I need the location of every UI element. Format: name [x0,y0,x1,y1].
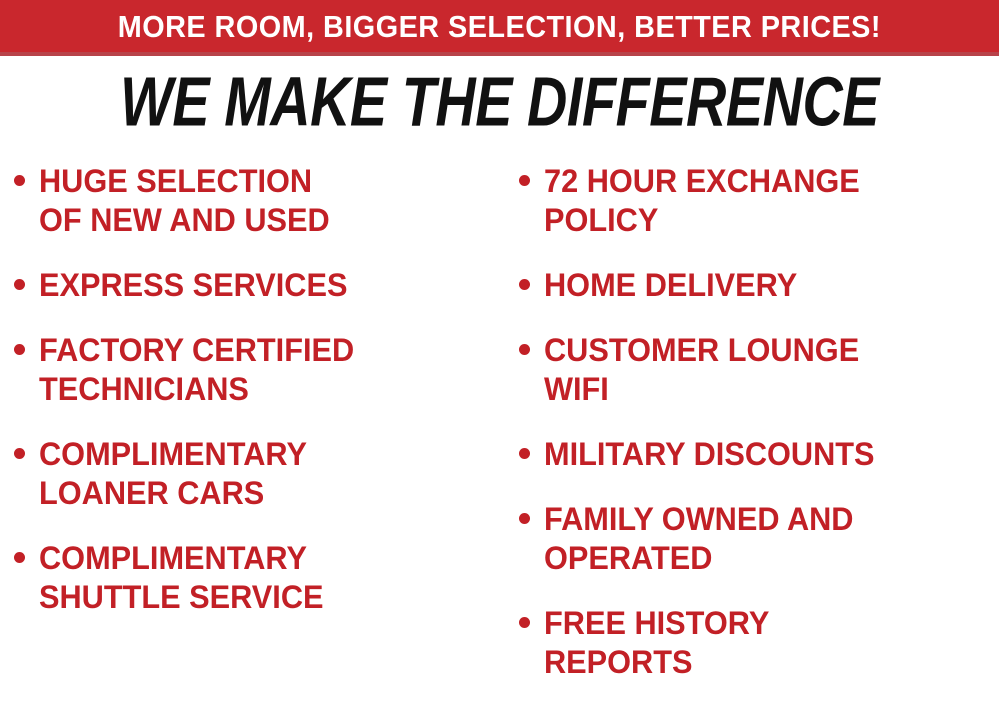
list-item-label: FREE HISTORY REPORTS [544,604,769,682]
list-item: FREE HISTORY REPORTS [519,604,999,682]
list-item: 72 HOUR EXCHANGE POLICY [519,162,999,240]
benefits-column-left: HUGE SELECTION OF NEW AND USED EXPRESS S… [0,152,505,643]
bullet-dot-icon [519,513,530,524]
list-item: EXPRESS SERVICES [14,266,505,305]
bullet-dot-icon [519,448,530,459]
list-item-label: HUGE SELECTION OF NEW AND USED [39,162,330,240]
list-item: CUSTOMER LOUNGE WIFI [519,331,999,409]
bullet-dot-icon [14,344,25,355]
list-item-label: COMPLIMENTARY LOANER CARS [39,435,307,513]
list-item: HUGE SELECTION OF NEW AND USED [14,162,505,240]
bullet-dot-icon [14,175,25,186]
list-item: MILITARY DISCOUNTS [519,435,999,474]
list-item-label: HOME DELIVERY [544,266,797,305]
list-item-label: EXPRESS SERVICES [39,266,347,305]
promo-banner-text: MORE ROOM, BIGGER SELECTION, BETTER PRIC… [118,11,881,42]
bullet-dot-icon [519,175,530,186]
headline: WE MAKE THE DIFFERENCE [0,64,999,142]
list-item-label: COMPLIMENTARY SHUTTLE SERVICE [39,539,323,617]
bullet-dot-icon [519,617,530,628]
bullet-dot-icon [519,344,530,355]
promo-banner: MORE ROOM, BIGGER SELECTION, BETTER PRIC… [0,0,999,52]
list-item-label: CUSTOMER LOUNGE WIFI [544,331,859,409]
banner-underline-divider [0,52,999,56]
bullet-dot-icon [14,552,25,563]
list-item-label: FAMILY OWNED AND OPERATED [544,500,853,578]
list-item-label: FACTORY CERTIFIED TECHNICIANS [39,331,354,409]
list-item: HOME DELIVERY [519,266,999,305]
list-item-label: 72 HOUR EXCHANGE POLICY [544,162,860,240]
list-item: COMPLIMENTARY SHUTTLE SERVICE [14,539,505,617]
list-item: FAMILY OWNED AND OPERATED [519,500,999,578]
headline-text: WE MAKE THE DIFFERENCE [120,68,879,137]
bullet-dot-icon [14,448,25,459]
list-item: COMPLIMENTARY LOANER CARS [14,435,505,513]
list-item: FACTORY CERTIFIED TECHNICIANS [14,331,505,409]
bullet-dot-icon [519,279,530,290]
list-item-label: MILITARY DISCOUNTS [544,435,875,474]
bullet-dot-icon [14,279,25,290]
benefits-column-right: 72 HOUR EXCHANGE POLICY HOME DELIVERY CU… [505,152,999,708]
benefits-columns: HUGE SELECTION OF NEW AND USED EXPRESS S… [0,152,999,692]
